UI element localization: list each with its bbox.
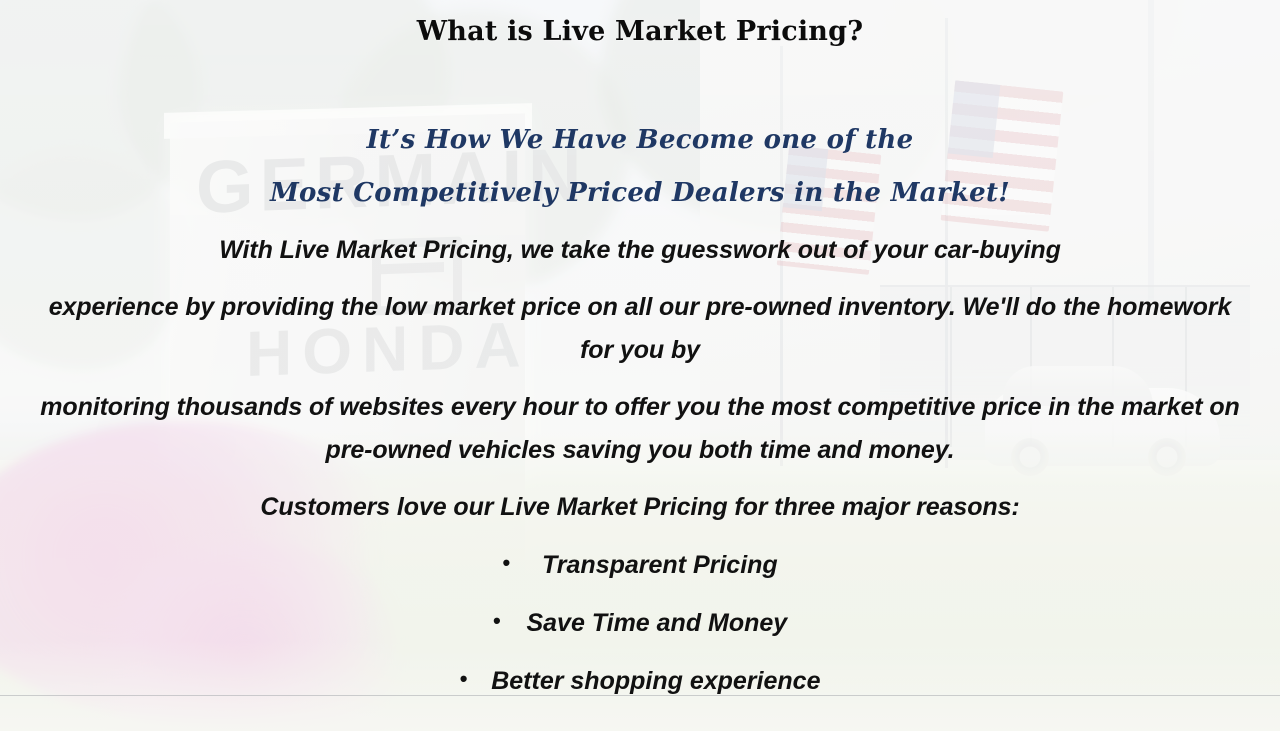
bullet-dot-icon: • — [493, 608, 501, 634]
body-line-5: pre-owned vehicles saving you both time … — [0, 436, 1280, 465]
page-title: What is Live Market Pricing? — [0, 16, 1280, 47]
body-line-2: experience by providing the low market p… — [0, 293, 1280, 322]
subtitle-line-2: Most Competitively Priced Dealers in the… — [0, 178, 1280, 208]
bullet-label: Transparent Pricing — [542, 551, 778, 579]
body-line-1: With Live Market Pricing, we take the gu… — [0, 236, 1280, 265]
subtitle-line-1: It’s How We Have Become one of the — [0, 125, 1280, 155]
bullet-dot-icon: • — [502, 550, 510, 576]
bullet-label: Save Time and Money — [526, 609, 787, 637]
bullet-item-1: •Transparent Pricing — [0, 551, 1280, 580]
bullet-item-2: •Save Time and Money — [0, 609, 1280, 638]
bullet-dot-icon: • — [460, 666, 468, 692]
slide-content: What is Live Market Pricing? It’s How We… — [0, 0, 1280, 731]
bullet-label: Better shopping experience — [491, 667, 820, 695]
bullet-item-3: •Better shopping experience — [0, 667, 1280, 696]
slide-root: GERMAIN HONDA What is Live Market Pricin… — [0, 0, 1280, 731]
body-line-6: Customers love our Live Market Pricing f… — [0, 493, 1280, 522]
body-line-3: for you by — [0, 336, 1280, 365]
body-line-4: monitoring thousands of websites every h… — [0, 393, 1280, 422]
